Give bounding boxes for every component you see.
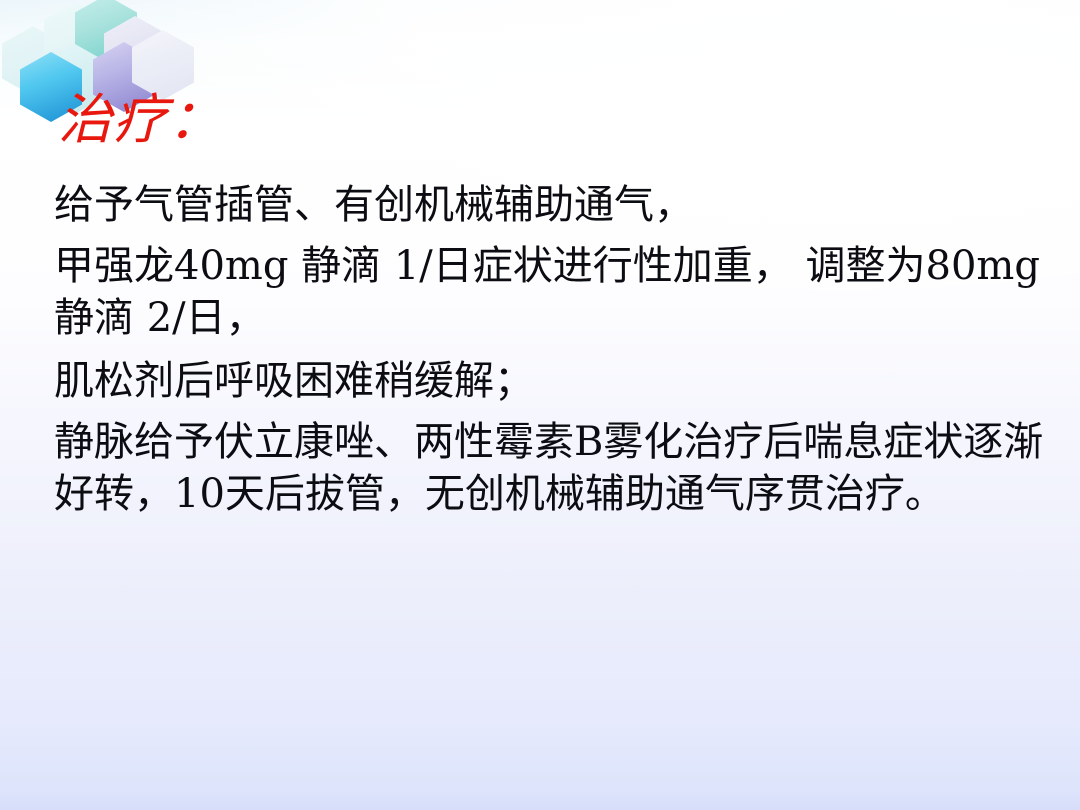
body-paragraph-1: 给予气管插管、有创机械辅助通气， bbox=[54, 176, 1044, 234]
slide-body: 给予气管插管、有创机械辅助通气， 甲强龙40mg 静滴 1/日症状进行性加重， … bbox=[54, 176, 1044, 520]
page-title: 治疗： bbox=[58, 92, 223, 149]
body-paragraph-2: 甲强龙40mg 静滴 1/日症状进行性加重， 调整为80mg 静滴 2/日， bbox=[54, 240, 1044, 344]
slide-canvas: 治疗： 给予气管插管、有创机械辅助通气， 甲强龙40mg 静滴 1/日症状进行性… bbox=[0, 0, 1080, 810]
body-paragraph-3: 肌松剂后呼吸困难稍缓解； bbox=[54, 352, 1044, 410]
body-paragraph-4: 静脉给予伏立康唑、两性霉素B雾化治疗后喘息症状逐渐好转，10天后拔管，无创机械辅… bbox=[54, 416, 1044, 520]
